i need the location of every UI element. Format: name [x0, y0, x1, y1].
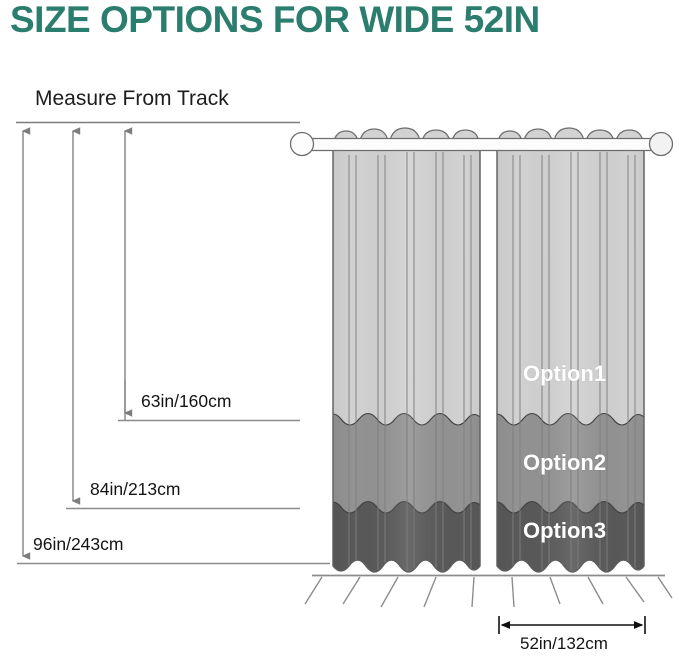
dimension-label-52in: 52in/132cm — [520, 634, 608, 654]
floor-line — [305, 576, 672, 608]
dimension-label-84in: 84in/213cm — [90, 479, 180, 499]
band-label-option3: Option3 — [523, 518, 606, 544]
floor-hatching — [305, 577, 672, 607]
dimension-label-63in: 63in/160cm — [141, 391, 231, 411]
dimension-52in — [499, 616, 645, 634]
size-diagram-svg — [0, 0, 679, 660]
band-label-option1: Option1 — [523, 361, 606, 387]
diagram-canvas: SIZE OPTIONS FOR WIDE 52IN Measure From … — [0, 0, 679, 660]
curtain-panel-left — [325, 128, 493, 602]
height-dimension-arrows-up — [23, 131, 125, 420]
panel-left-bands — [325, 150, 493, 602]
rod-finial-left — [291, 133, 314, 156]
dimension-label-96in: 96in/243cm — [33, 534, 123, 554]
rod-finial-right — [650, 133, 673, 156]
band-label-option2: Option2 — [523, 450, 606, 476]
